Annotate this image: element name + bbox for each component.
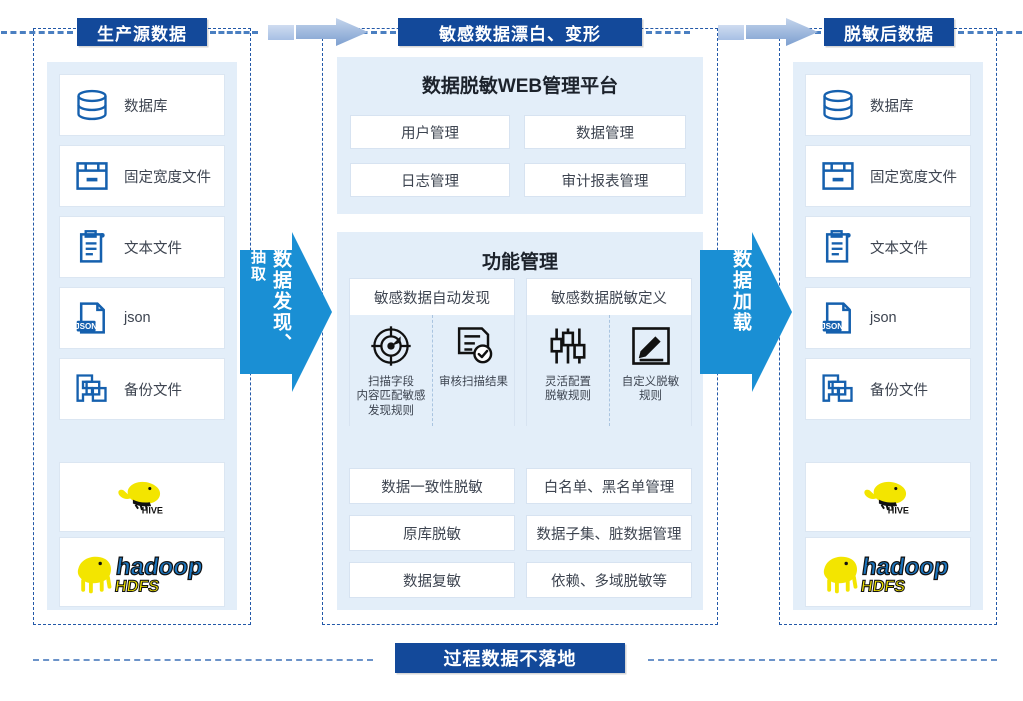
func-button-origin-db-masking[interactable]: 原库脱敏	[349, 515, 515, 551]
svg-text:HIVE: HIVE	[142, 505, 163, 515]
sliders-icon	[547, 325, 589, 367]
database-icon	[74, 87, 110, 123]
bottom-dash-rule	[33, 659, 373, 661]
func-cell-label: 灵活配置 脱敏规则	[545, 375, 591, 404]
pencil-edit-icon	[630, 325, 672, 367]
func-column-header: 敏感数据脱敏定义	[527, 279, 691, 315]
web-button-data-mgmt[interactable]: 数据管理	[524, 115, 686, 149]
header-chip-result: 脱敏后数据	[824, 18, 954, 46]
source-item-card[interactable]: HIVE	[59, 462, 225, 532]
source-item-label: 文本文件	[124, 237, 182, 258]
database-icon	[820, 87, 856, 123]
arrow-label-load: 数据加载	[731, 249, 750, 333]
func-cell-label: 扫描字段 内容匹配敏感 发现规则	[357, 375, 426, 418]
func-button-consistent-masking[interactable]: 数据一致性脱敏	[349, 468, 515, 504]
result-item-label: 固定宽度文件	[870, 166, 957, 187]
fixed-width-file-icon	[74, 158, 110, 194]
hive-logo: HIVE	[849, 474, 927, 520]
backup-file-icon	[820, 371, 856, 407]
func-button-remasking[interactable]: 数据复敏	[349, 562, 515, 598]
source-item-card[interactable]: 固定宽度文件	[59, 145, 225, 207]
func-cell-audit-result[interactable]: 审核扫描结果	[432, 315, 514, 426]
diagram-canvas: 生产源数据 敏感数据漂白、变形 脱敏后数据 数据库 固定宽度文件 文本文件 JS…	[0, 0, 1023, 701]
text-file-icon	[820, 229, 856, 265]
func-cell-scan-field[interactable]: 扫描字段 内容匹配敏感 发现规则	[350, 315, 432, 426]
hive-logo: HIVE	[103, 474, 181, 520]
arrow-label-discover: 数据发现、	[271, 249, 290, 354]
svg-text:JSON: JSON	[75, 322, 97, 331]
hadoop-hdfs-logo: hadoop HDFS	[72, 548, 212, 596]
func-cell-label: 审核扫描结果	[439, 375, 508, 389]
header-chip-process: 敏感数据漂白、变形	[398, 18, 642, 46]
source-item-card[interactable]: hadoop HDFS	[59, 537, 225, 607]
result-item-card[interactable]: 数据库	[805, 74, 971, 136]
func-button-dependency-multidomain[interactable]: 依赖、多域脱敏等	[526, 562, 692, 598]
result-item-label: json	[870, 310, 897, 326]
bottom-dash-rule	[648, 659, 997, 661]
result-item-card[interactable]: 备份文件	[805, 358, 971, 420]
func-cell-label: 自定义脱敏 规则	[622, 375, 680, 404]
header-chip-source: 生产源数据	[77, 18, 207, 46]
result-item-card[interactable]: HIVE	[805, 462, 971, 532]
scan-target-icon	[370, 325, 412, 367]
result-item-card[interactable]: hadoop HDFS	[805, 537, 971, 607]
source-item-card[interactable]: 备份文件	[59, 358, 225, 420]
result-item-card[interactable]: 固定宽度文件	[805, 145, 971, 207]
func-button-white-black-list[interactable]: 白名单、黑名单管理	[526, 468, 692, 504]
top-dash-segment	[958, 31, 1022, 34]
func-cell-flexible-config[interactable]: 灵活配置 脱敏规则	[527, 315, 609, 426]
dash-block	[268, 25, 294, 40]
footer-chip: 过程数据不落地	[395, 643, 625, 673]
svg-text:HDFS: HDFS	[860, 577, 907, 595]
top-dash-segment	[210, 31, 258, 34]
json-file-icon: JSON	[820, 300, 856, 336]
result-item-label: 文本文件	[870, 237, 928, 258]
result-item-card[interactable]: JSON json	[805, 287, 971, 349]
source-item-label: 数据库	[124, 95, 168, 116]
flow-arrow-icon	[296, 17, 368, 47]
dash-block	[718, 25, 744, 40]
flow-arrow-icon	[746, 17, 818, 47]
func-button-subset-dirty-data[interactable]: 数据子集、脏数据管理	[526, 515, 692, 551]
source-item-card[interactable]: 数据库	[59, 74, 225, 136]
arrow-label-extract: 抽取	[250, 249, 265, 283]
result-item-label: 数据库	[870, 95, 914, 116]
source-item-label: json	[124, 310, 151, 326]
fixed-width-file-icon	[820, 158, 856, 194]
svg-text:hadoop: hadoop	[860, 553, 950, 580]
top-dash-segment	[646, 31, 690, 34]
result-item-card[interactable]: 文本文件	[805, 216, 971, 278]
svg-text:JSON: JSON	[821, 322, 843, 331]
result-item-label: 备份文件	[870, 379, 928, 400]
web-button-user-mgmt[interactable]: 用户管理	[350, 115, 510, 149]
hadoop-hdfs-logo: hadoop HDFS	[818, 548, 958, 596]
func-column-masking-definition: 敏感数据脱敏定义 灵活配置 脱敏规则	[526, 278, 692, 426]
top-dash-segment	[1, 31, 73, 34]
source-item-label: 备份文件	[124, 379, 182, 400]
function-management-title: 功能管理	[337, 247, 703, 274]
svg-text:HDFS: HDFS	[114, 577, 161, 595]
svg-text:HIVE: HIVE	[888, 505, 909, 515]
svg-text:hadoop: hadoop	[114, 553, 204, 580]
audit-result-icon	[453, 325, 495, 367]
source-item-card[interactable]: 文本文件	[59, 216, 225, 278]
backup-file-icon	[74, 371, 110, 407]
func-cell-custom-rule[interactable]: 自定义脱敏 规则	[609, 315, 691, 426]
json-file-icon: JSON	[74, 300, 110, 336]
func-column-auto-discovery: 敏感数据自动发现 扫描字段 内容匹配敏感 发现规则	[349, 278, 515, 426]
text-file-icon	[74, 229, 110, 265]
web-button-audit-mgmt[interactable]: 审计报表管理	[524, 163, 686, 197]
func-column-header: 敏感数据自动发现	[350, 279, 514, 315]
source-item-label: 固定宽度文件	[124, 166, 211, 187]
web-platform-title: 数据脱敏WEB管理平台	[337, 71, 703, 98]
source-item-card[interactable]: JSON json	[59, 287, 225, 349]
web-button-log-mgmt[interactable]: 日志管理	[350, 163, 510, 197]
